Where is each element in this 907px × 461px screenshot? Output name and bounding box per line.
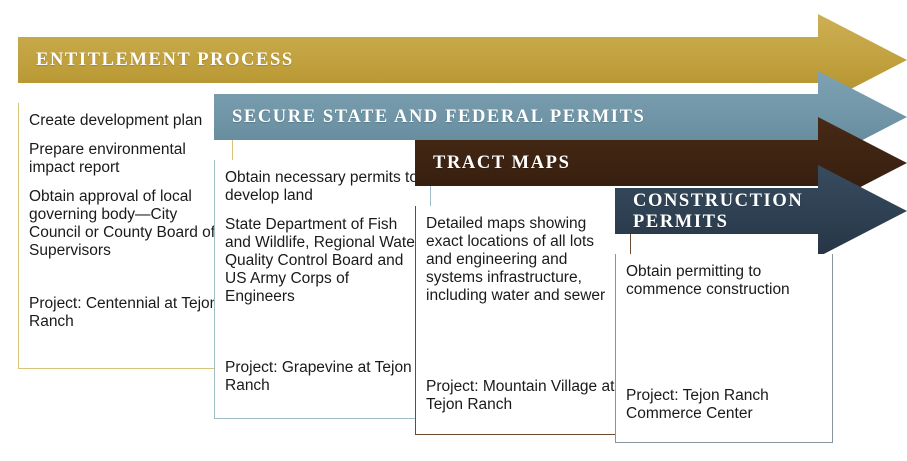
stage-4-bullet-1: Obtain permitting to commence constructi… [626, 263, 822, 299]
stage-4-chevron-shape [615, 165, 907, 257]
stage-2-bullet-1: Obtain necessary permits to develop land [225, 169, 420, 205]
stage-3-bullet-1: Detailed maps showing exact locations of… [426, 215, 620, 305]
stage-3-body[interactable]: Detailed maps showing exact locations of… [415, 206, 631, 435]
stage-3-project: Project: Mountain Village at Tejon Ranch [426, 378, 622, 414]
stage-1-bullet-1: Create development plan [29, 112, 222, 130]
stage-construction-permits[interactable]: CONSTRUCTION PERMITS Obtain permitting t… [615, 165, 907, 445]
stage-2-body[interactable]: Obtain necessary permits to develop land… [214, 160, 431, 419]
stage-2-project: Project: Grapevine at Tejon Ranch [225, 359, 422, 395]
stage-1-bullet-3: Obtain approval of local governing body—… [29, 188, 222, 260]
stage-4-project: Project: Tejon Ranch Commerce Center [626, 387, 824, 423]
stage-1-body[interactable]: Create development plan Prepare environm… [18, 103, 233, 369]
stage-1-project: Project: Centennial at Tejon Ranch [29, 295, 224, 331]
stage-4-arrow-band [615, 165, 907, 257]
stage-2-bullet-2: State Department of Fish and Wildlife, R… [225, 216, 420, 306]
stage-4-body[interactable]: Obtain permitting to commence constructi… [615, 254, 833, 443]
stage-1-bullet-2: Prepare environmental impact report [29, 141, 222, 177]
process-diagram: ENTITLEMENT PROCESS Create development p… [0, 0, 907, 461]
